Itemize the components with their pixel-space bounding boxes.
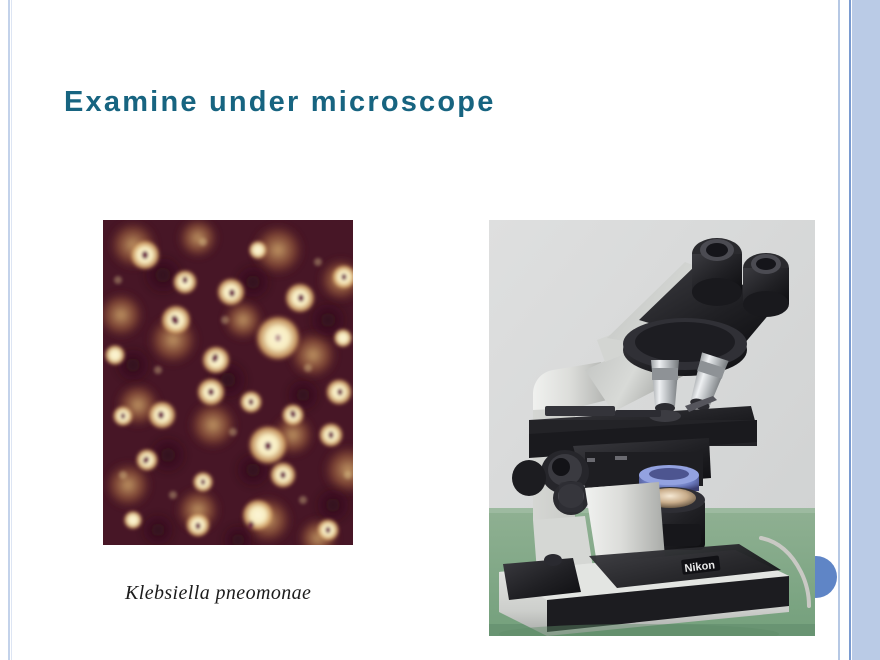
left-accent-rule-outer bbox=[8, 0, 10, 660]
left-accent-rule-inner bbox=[11, 0, 12, 660]
micrograph-caption: Klebsiella pneomonae bbox=[125, 582, 311, 605]
slide: Examine under microscope bbox=[0, 0, 880, 660]
right-accent-rule-inner bbox=[849, 0, 851, 660]
micrograph-image bbox=[103, 220, 353, 545]
right-accent-rule-outer bbox=[838, 0, 840, 660]
micrograph-graphic bbox=[103, 220, 353, 545]
page-title: Examine under microscope bbox=[64, 86, 496, 119]
right-accent-band bbox=[852, 0, 880, 660]
microscope-image: Nikon bbox=[489, 220, 815, 636]
microscope-graphic: Nikon bbox=[489, 220, 815, 636]
